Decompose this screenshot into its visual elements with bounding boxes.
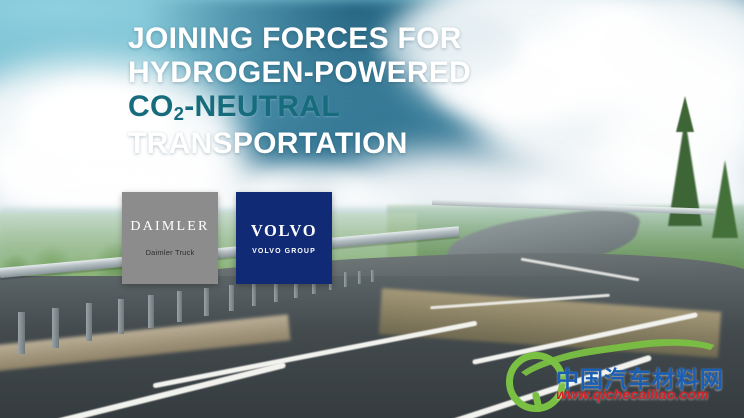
headline-line-2: HYDROGEN-POWERED [128,56,558,90]
watermark-url-text: www.qichecailiao.com [556,386,709,402]
headline-line-3: CO2-NEUTRAL [128,90,558,127]
site-watermark: 中国汽车材料网 www.qichecailiao.com [504,352,736,414]
conifer-tree-top [676,96,694,132]
headline-block: JOINING FORCES FOR HYDROGEN-POWERED CO2-… [128,22,558,161]
key-visual-canvas: JOINING FORCES FOR HYDROGEN-POWERED CO2-… [0,0,744,418]
conifer-tree-secondary [712,160,738,238]
daimler-subtitle: Daimler Truck [146,248,195,257]
volvo-logo-panel: VOLVO VOLVO GROUP [236,192,332,284]
headline-neutral-text: -NEUTRAL [184,90,340,123]
headline-line-1: JOINING FORCES FOR [128,22,558,56]
headline-co2-subscript: 2 [174,103,185,124]
daimler-logo-panel: DAIMLER Daimler Truck [122,192,218,284]
daimler-wordmark: DAIMLER [130,219,209,235]
volvo-wordmark: VOLVO [251,221,317,241]
logo-row: DAIMLER Daimler Truck VOLVO VOLVO GROUP [122,192,332,284]
volvo-subtitle: VOLVO GROUP [252,248,316,255]
headline-co-text: CO [128,90,174,123]
headline-line-4: TRANSPORTATION [128,127,558,161]
